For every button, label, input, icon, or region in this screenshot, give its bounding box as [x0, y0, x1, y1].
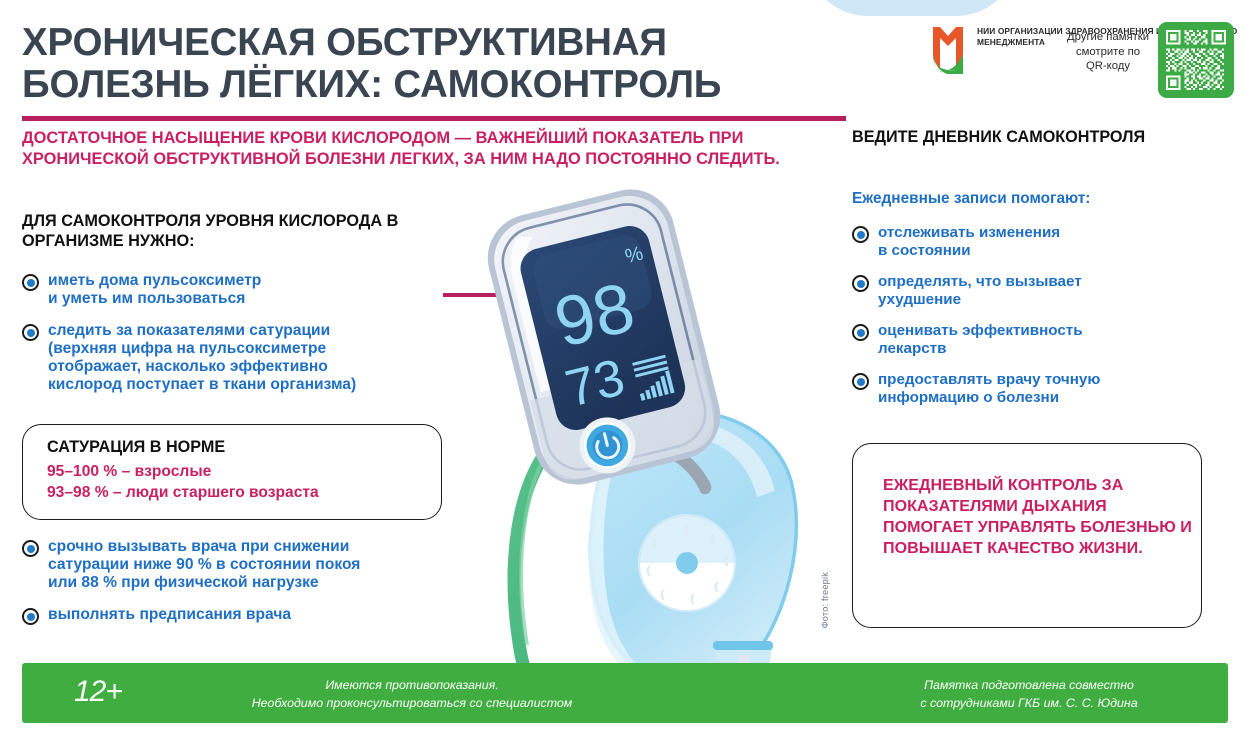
- bullet-dot-icon: [22, 274, 39, 291]
- right-bullet-list: отслеживать изменения в состоянии опреде…: [852, 224, 1232, 406]
- list-item: срочно вызывать врача при снижении сатур…: [22, 538, 472, 592]
- left-bullet-list-bottom: срочно вызывать врача при снижении сатур…: [22, 538, 472, 625]
- bullet-dot-icon: [22, 540, 39, 557]
- list-item-label: выполнять предписания врача: [48, 606, 291, 624]
- footer-prepared-by: Памятка подготовлена совместно с сотрудн…: [864, 677, 1194, 712]
- title-line-2: болезнь лёгких: самоконтроль: [22, 63, 721, 106]
- list-item-label: следить за показателями сатурации (верхн…: [48, 322, 356, 394]
- decorative-arc: [806, 0, 1018, 16]
- list-item: следить за показателями сатурации (верхн…: [22, 322, 452, 394]
- bullet-dot-icon: [22, 324, 39, 341]
- bullet-dot-icon: [852, 324, 869, 341]
- bullet-dot-icon: [852, 373, 869, 390]
- age-rating-badge: 12+: [74, 675, 122, 709]
- list-item: предоставлять врачу точную информацию о …: [852, 371, 1232, 406]
- qr-code-icon[interactable]: [1158, 22, 1234, 98]
- page-title: Хроническая обструктивная болезнь лёгких…: [22, 22, 852, 105]
- left-bullet-list-top: иметь дома пульсоксиметр и уметь им поль…: [22, 272, 452, 394]
- bullet-dot-icon: [852, 275, 869, 292]
- list-item: определять, что вызывает ухудшение: [852, 273, 1232, 308]
- list-item: иметь дома пульсоксиметр и уметь им поль…: [22, 272, 452, 308]
- footer-disclaimer: Имеются противопоказания. Необходимо про…: [192, 677, 632, 712]
- list-item-label: предоставлять врачу точную информацию о …: [878, 371, 1100, 406]
- right-section-title: Ведите дневник самоконтроля: [852, 128, 1212, 147]
- callout-text: Ежедневный контроль за показателями дыха…: [883, 475, 1201, 559]
- infographic-page: Хроническая обструктивная болезнь лёгких…: [0, 0, 1250, 744]
- list-item: выполнять предписания врача: [22, 606, 472, 625]
- tulip-leaf-logo-icon: [930, 24, 966, 80]
- callout-box: Ежедневный контроль за показателями дыха…: [852, 443, 1202, 628]
- list-item-label: определять, что вызывает ухудшение: [878, 273, 1082, 308]
- pulse-oximeter-illustration: 98 % 73: [455, 185, 855, 685]
- title-divider: [22, 116, 846, 121]
- list-item: оценивать эффективность лекарств: [852, 322, 1232, 357]
- photo-credit: Фото: freepik: [820, 572, 830, 628]
- list-item-label: отслеживать изменения в состоянии: [878, 224, 1060, 259]
- pulse-oximeter-device: 98 % 73: [478, 185, 729, 494]
- norm-box-line: 95–100 % – взрослые: [47, 462, 441, 483]
- lead-paragraph: Достаточное насыщение крови кислородом —…: [22, 128, 852, 170]
- norm-box-line: 93–98 % – люди старшего возраста: [47, 483, 441, 504]
- list-item-label: срочно вызывать врача при снижении сатур…: [48, 538, 360, 592]
- bullet-dot-icon: [852, 226, 869, 243]
- saturation-norm-box: Сатурация в норме 95–100 % – взрослые 93…: [22, 424, 442, 520]
- list-item-label: иметь дома пульсоксиметр и уметь им поль…: [48, 272, 261, 308]
- list-item: отслеживать изменения в состоянии: [852, 224, 1232, 259]
- list-item-label: оценивать эффективность лекарств: [878, 322, 1083, 357]
- qr-note-text: Другие памятки смотрите по QR-коду: [1065, 30, 1151, 74]
- right-subtitle: Ежедневные записи помогают:: [852, 190, 1212, 208]
- footer-bar: 12+ Имеются противопоказания. Необходимо…: [22, 663, 1228, 723]
- bullet-dot-icon: [22, 608, 39, 625]
- title-line-1: Хроническая обструктивная: [22, 21, 667, 64]
- left-section-title: Для самоконтроля уровня кислорода в орга…: [22, 212, 442, 251]
- norm-box-title: Сатурация в норме: [47, 438, 441, 457]
